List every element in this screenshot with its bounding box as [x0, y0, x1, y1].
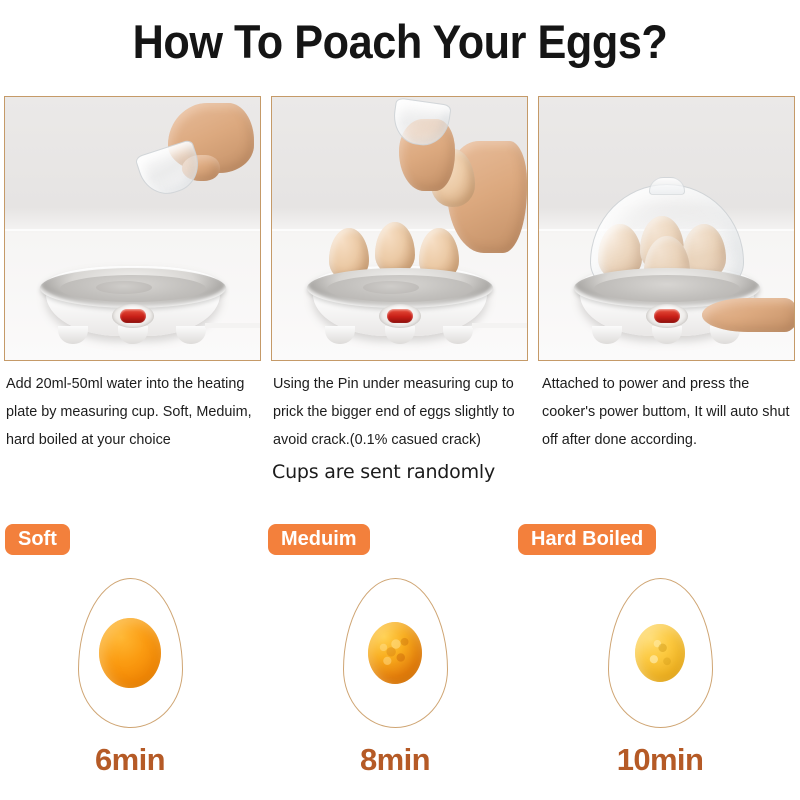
heating-plate-center — [96, 281, 152, 294]
step-caption-3: Attached to power and press the cooker's… — [542, 370, 794, 454]
power-switch-red-rocker — [654, 309, 680, 323]
yolk-medium-icon — [368, 622, 422, 684]
egg-diagram-soft: 6min — [55, 578, 205, 778]
step-photo-1-pour-water — [4, 96, 261, 361]
cook-time-hard-boiled: 10min — [585, 742, 735, 778]
cook-time-soft: 6min — [55, 742, 205, 778]
power-switch[interactable] — [646, 304, 688, 328]
heating-plate-center — [363, 281, 419, 294]
step-photo-2-prick-egg — [271, 96, 528, 361]
step-caption-1: Add 20ml-50ml water into the heating pla… — [6, 370, 268, 454]
power-switch-red-rocker — [120, 309, 146, 323]
yolk-hard-icon — [635, 624, 685, 682]
egg-cooker — [307, 250, 493, 346]
power-cord — [472, 307, 529, 328]
step-caption-2: Using the Pin under measuring cup to pri… — [273, 370, 535, 454]
doneness-badge-hard-boiled: Hard Boiled — [518, 524, 656, 555]
egg-outline-icon — [78, 578, 183, 728]
heating-plate — [594, 275, 740, 302]
step-photo-row — [0, 96, 800, 364]
pointing-finger-icon — [702, 298, 795, 332]
cooker-foot — [443, 326, 473, 344]
egg-cooker — [40, 250, 226, 346]
doneness-badge-soft: Soft — [5, 524, 70, 555]
cups-random-note: Cups are sent randomly — [272, 461, 495, 483]
cooker-foot — [325, 326, 355, 344]
egg-diagram-medium: 8min — [320, 578, 470, 778]
cooker-foot — [592, 326, 622, 344]
dome-lid-knob — [649, 177, 685, 195]
doneness-badge-medium: Meduim — [268, 524, 370, 555]
yolk-runny-icon — [99, 618, 161, 688]
power-cord — [205, 307, 262, 328]
cooker-foot — [652, 326, 682, 344]
cooker-foot — [118, 326, 148, 344]
egg-outline-icon — [608, 578, 713, 728]
power-switch[interactable] — [112, 304, 154, 328]
cooker-foot — [385, 326, 415, 344]
egg-outline-icon — [343, 578, 448, 728]
page-title: How To Poach Your Eggs? — [32, 14, 768, 69]
egg-diagram-hard-boiled: 10min — [585, 578, 735, 778]
power-switch[interactable] — [379, 304, 421, 328]
step-photo-3-press-power — [538, 96, 795, 361]
cooker-foot — [176, 326, 206, 344]
cooker-foot — [58, 326, 88, 344]
cook-time-medium: 8min — [320, 742, 470, 778]
power-switch-red-rocker — [387, 309, 413, 323]
